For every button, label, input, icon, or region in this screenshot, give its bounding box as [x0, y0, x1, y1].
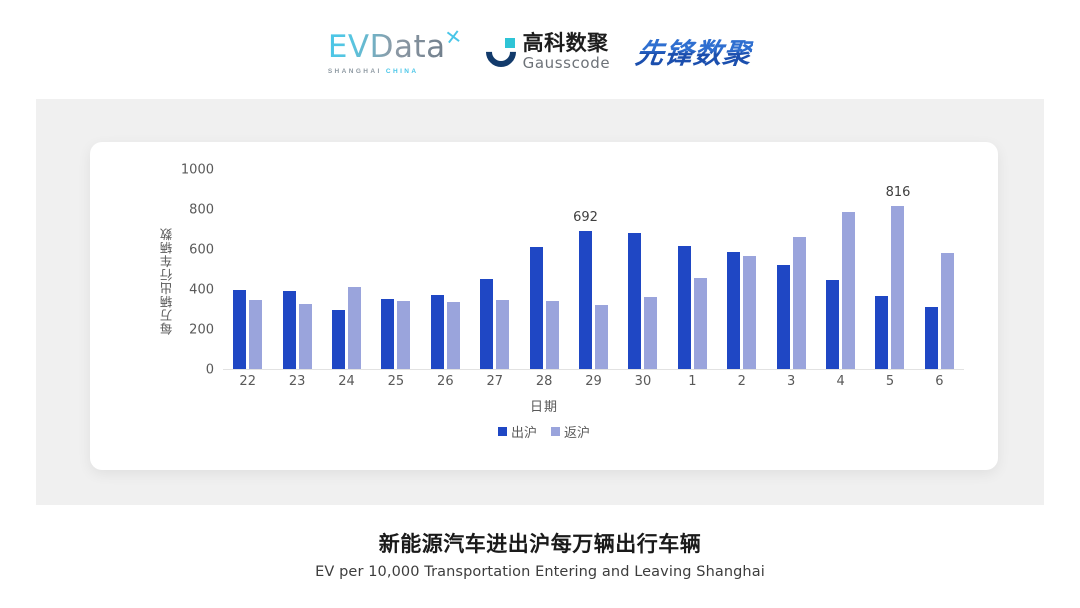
caption-title-cn: 新能源汽车进出沪每万辆出行车辆	[0, 528, 1080, 558]
bar-in[interactable]	[644, 297, 657, 369]
bar-out[interactable]	[678, 246, 691, 369]
evdata-wordmark: EVData	[328, 29, 446, 65]
bar-out[interactable]	[233, 290, 246, 369]
legend-item-in: 返沪	[551, 422, 590, 441]
bar-value-label: 692	[573, 210, 598, 225]
y-axis-tick: 600	[189, 243, 214, 258]
caption-subtitle-en: EV per 10,000 Transportation Entering an…	[0, 564, 1080, 580]
bar-value-label: 816	[886, 185, 911, 200]
x-axis-tick: 5	[865, 374, 914, 389]
bar-out[interactable]	[777, 265, 790, 369]
bar-group	[717, 170, 766, 369]
y-axis-title: 每万辆出行车辆数	[158, 186, 176, 376]
bar-out[interactable]	[381, 299, 394, 369]
bar-group	[322, 170, 371, 369]
bar-group	[272, 170, 321, 369]
x-axis-tick: 2	[717, 374, 766, 389]
chart-legend: 出沪 返沪	[90, 422, 998, 441]
y-axis-tick: 0	[206, 363, 214, 378]
bar-out[interactable]	[332, 310, 345, 369]
bar-out[interactable]	[480, 279, 493, 369]
caption: 新能源汽车进出沪每万辆出行车辆 EV per 10,000 Transporta…	[0, 528, 1080, 580]
legend-swatch-out-icon	[498, 427, 507, 436]
logo-evdata: EVData ✕ SHANGHAI CHINA	[328, 29, 460, 75]
gausscode-circle-icon	[486, 37, 516, 67]
bar-group	[371, 170, 420, 369]
x-axis-tick: 3	[766, 374, 815, 389]
logo-bar: EVData ✕ SHANGHAI CHINA 高科数聚 Gausscode 先…	[0, 22, 1080, 82]
bar-group	[470, 170, 519, 369]
chart-card: 每万辆出行车辆数 02004006008001000 692816 222324…	[90, 142, 998, 470]
x-axis-tick: 26	[421, 374, 470, 389]
evdata-tagline-country: CHINA	[386, 68, 419, 75]
gausscode-en: Gausscode	[523, 56, 611, 71]
bar-group	[421, 170, 470, 369]
logo-gausscode: 高科数聚 Gausscode	[486, 33, 611, 71]
x-axis-tick: 1	[668, 374, 717, 389]
bar-in[interactable]	[595, 305, 608, 369]
bar-group	[223, 170, 272, 369]
x-axis-tick: 6	[915, 374, 964, 389]
bar-group	[766, 170, 815, 369]
bar-chart: 每万辆出行车辆数 02004006008001000 692816 222324…	[90, 142, 998, 470]
legend-label-in: 返沪	[564, 422, 590, 441]
bar-in[interactable]	[743, 256, 756, 369]
bar-groups: 692816	[223, 170, 964, 369]
legend-item-out: 出沪	[498, 422, 537, 441]
x-axis-title: 日期	[90, 396, 998, 415]
x-cross-icon: ✕	[443, 24, 463, 51]
y-axis-tick: 1000	[181, 163, 214, 178]
bar-in[interactable]	[793, 237, 806, 369]
evdata-tagline-city: SHANGHAI	[328, 68, 386, 75]
bar-in[interactable]	[299, 304, 312, 369]
evdata-tagline: SHANGHAI CHINA	[328, 68, 419, 75]
logo-xianfeng: 先锋数聚	[633, 32, 755, 72]
x-axis-tick: 4	[816, 374, 865, 389]
x-axis-tick: 29	[569, 374, 618, 389]
bar-in[interactable]	[496, 300, 509, 369]
x-axis-tick: 28	[519, 374, 568, 389]
plot-area: 692816	[223, 170, 964, 370]
bar-group	[668, 170, 717, 369]
bar-in[interactable]	[694, 278, 707, 369]
bar-out[interactable]	[431, 295, 444, 369]
bar-group: 692	[569, 170, 618, 369]
bar-group	[618, 170, 667, 369]
bar-in[interactable]	[842, 212, 855, 369]
bar-in[interactable]	[397, 301, 410, 369]
y-axis-tick: 400	[189, 283, 214, 298]
slide-root: EVData ✕ SHANGHAI CHINA 高科数聚 Gausscode 先…	[0, 0, 1080, 608]
bar-out[interactable]	[283, 291, 296, 369]
y-axis-tick: 200	[189, 323, 214, 338]
y-axis-tick: 800	[189, 203, 214, 218]
x-axis-tick: 22	[223, 374, 272, 389]
bar-out[interactable]	[628, 233, 641, 369]
bar-in[interactable]	[546, 301, 559, 369]
y-axis-tick-labels: 02004006008001000	[176, 170, 220, 374]
x-axis-tick: 30	[618, 374, 667, 389]
bar-out[interactable]	[925, 307, 938, 369]
bar-in[interactable]	[447, 302, 460, 369]
bar-out[interactable]	[826, 280, 839, 369]
bar-group: 816	[865, 170, 914, 369]
bar-in[interactable]: 816	[891, 206, 904, 369]
bar-out[interactable]	[530, 247, 543, 369]
bar-group	[519, 170, 568, 369]
legend-label-out: 出沪	[511, 422, 537, 441]
bar-out[interactable]	[875, 296, 888, 369]
gausscode-text: 高科数聚 Gausscode	[523, 33, 611, 71]
legend-swatch-in-icon	[551, 427, 560, 436]
bar-group	[915, 170, 964, 369]
bar-in[interactable]	[348, 287, 361, 369]
x-axis-tick: 25	[371, 374, 420, 389]
bar-out[interactable]: 692	[579, 231, 592, 369]
bar-group	[816, 170, 865, 369]
x-axis-tick: 27	[470, 374, 519, 389]
bar-out[interactable]	[727, 252, 740, 369]
x-axis-tick: 23	[272, 374, 321, 389]
bar-in[interactable]	[941, 253, 954, 369]
gausscode-cn: 高科数聚	[523, 33, 611, 54]
x-axis-tick-labels: 222324252627282930123456	[223, 374, 964, 389]
bar-in[interactable]	[249, 300, 262, 369]
x-axis-tick: 24	[322, 374, 371, 389]
